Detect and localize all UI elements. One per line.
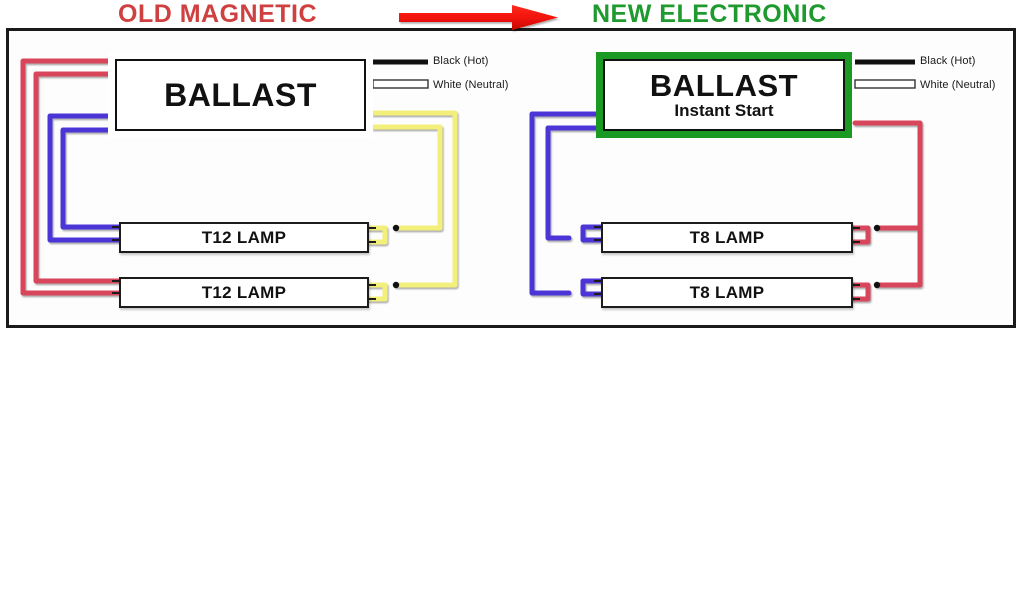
lamp-box-t12-1: T12 LAMP bbox=[119, 222, 369, 253]
label-black-hot-new: Black (Hot) bbox=[920, 55, 976, 67]
heading-new-electronic: NEW ELECTRONIC bbox=[592, 2, 827, 27]
ballast-box-new-electronic: BALLAST Instant Start bbox=[596, 52, 852, 138]
lamp-box-t12-2: T12 LAMP bbox=[119, 277, 369, 308]
ballast-old-title: BALLAST bbox=[164, 79, 317, 112]
diagram-canvas: OLD MAGNETIC NEW ELECTRONIC bbox=[0, 0, 1024, 600]
ballast-new-title: BALLAST bbox=[650, 70, 798, 102]
lamp-label: T12 LAMP bbox=[202, 228, 287, 248]
ballast-new-subtitle: Instant Start bbox=[674, 102, 773, 120]
lamp-box-t8-2: T8 LAMP bbox=[601, 277, 853, 308]
lamp-label: T8 LAMP bbox=[690, 283, 765, 303]
transition-arrow-icon bbox=[399, 5, 558, 30]
label-black-hot-old: Black (Hot) bbox=[433, 55, 489, 67]
ballast-box-old-magnetic: BALLAST bbox=[108, 52, 373, 138]
lamp-label: T8 LAMP bbox=[690, 228, 765, 248]
label-white-neutral-new: White (Neutral) bbox=[920, 79, 995, 91]
heading-old-magnetic: OLD MAGNETIC bbox=[118, 2, 317, 27]
lamp-box-t8-1: T8 LAMP bbox=[601, 222, 853, 253]
lamp-label: T12 LAMP bbox=[202, 283, 287, 303]
label-white-neutral-old: White (Neutral) bbox=[433, 79, 508, 91]
